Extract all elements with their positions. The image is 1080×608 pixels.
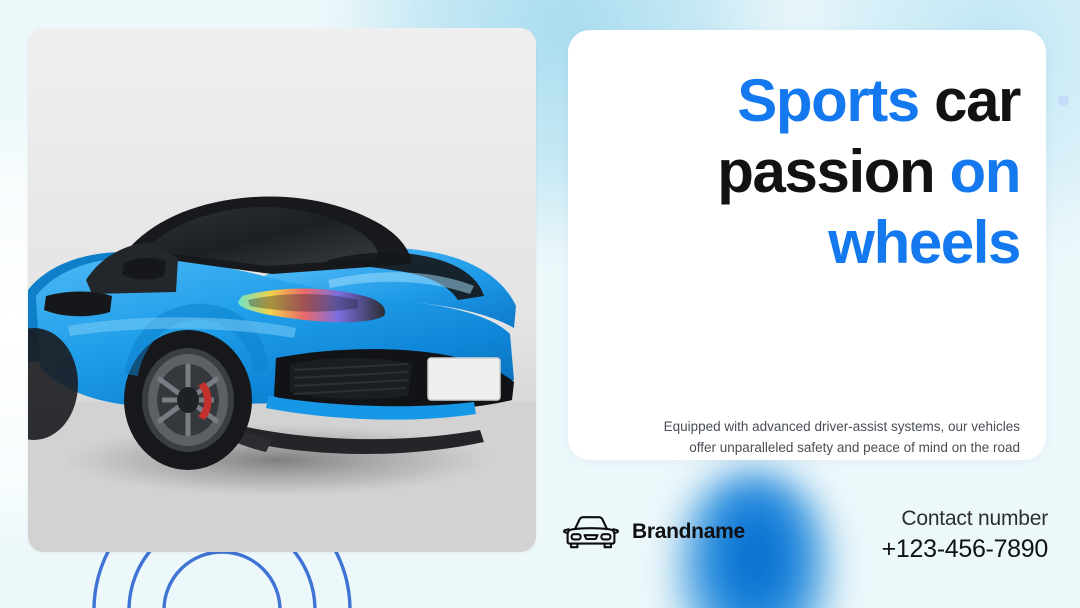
contact-number[interactable]: +123-456-7890 (882, 534, 1048, 565)
headline-word-wheels: wheels (828, 209, 1020, 276)
headline-word-sports: Sports (737, 67, 919, 134)
car-illustration (28, 28, 536, 552)
headline-word-car: car (919, 67, 1020, 134)
headline-line-3: wheels (594, 208, 1020, 279)
accent-dot-right (1058, 95, 1069, 106)
content-card: Sports car passion on wheels Equipped wi… (568, 30, 1046, 460)
headline: Sports car passion on wheels (594, 66, 1020, 278)
brand-name: Brandname (632, 520, 745, 544)
hero-car-photo (28, 28, 536, 552)
headline-word-on: on (949, 138, 1020, 205)
headline-line-2: passion on (594, 137, 1020, 208)
car-front-icon (563, 513, 619, 551)
headline-line-1: Sports car (594, 66, 1020, 137)
poster-canvas: Sports car passion on wheels Equipped wi… (0, 0, 1080, 608)
body-paragraph: Equipped with advanced driver-assist sys… (660, 416, 1020, 460)
brand-lockup[interactable]: Brandname (563, 513, 745, 551)
headline-word-passion: passion (717, 138, 949, 205)
contact-block[interactable]: Contact number +123-456-7890 (882, 505, 1048, 566)
contact-label: Contact number (882, 505, 1048, 532)
